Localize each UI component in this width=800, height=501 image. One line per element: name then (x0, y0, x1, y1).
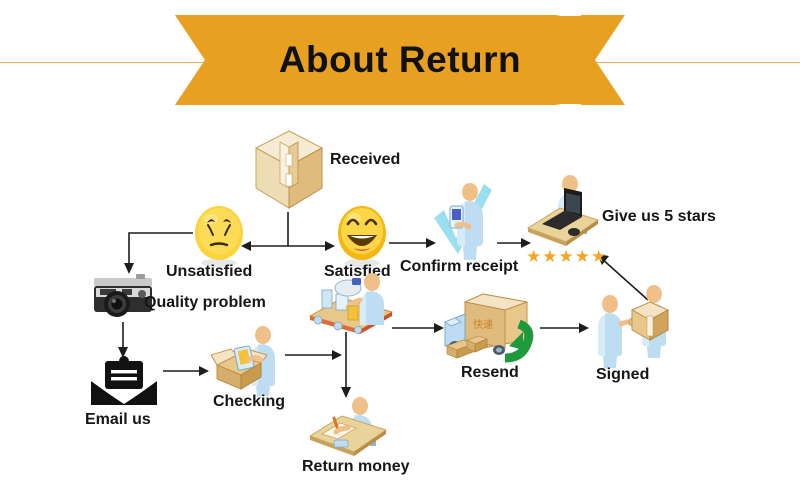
person-desk-writing-icon (306, 396, 390, 462)
person-laptop-icon (524, 172, 600, 250)
star-icon: ★ (591, 248, 606, 265)
node-checking: Checking (209, 325, 285, 402)
node-give-5-stars: Give us 5 stars ★ ★ ★ ★ ★ (524, 172, 600, 255)
smiling-face-icon (334, 205, 390, 267)
about-return-infographic: About Return (0, 0, 800, 501)
node-confirm-receipt: Confirm receipt (432, 180, 500, 267)
two-people-handover-box-icon (588, 282, 678, 370)
label-signed: Signed (596, 366, 649, 384)
about-return-banner: About Return (175, 14, 625, 106)
label-return-money: Return money (302, 458, 410, 476)
label-unsatisfied: Unsatisfied (166, 263, 252, 281)
carton-box-icon (252, 128, 326, 214)
label-quality-problem: Quality problem (144, 294, 266, 312)
label-checking: Checking (213, 393, 285, 411)
person-phone-check-icon (432, 180, 500, 262)
star-rating: ★ ★ ★ ★ ★ (526, 248, 606, 265)
label-confirm-receipt: Confirm receipt (400, 258, 518, 276)
node-email-us: Email us (89, 355, 159, 412)
label-give-5-stars: Give us 5 stars (602, 208, 716, 226)
delivery-truck-icon: 快递 (443, 288, 541, 366)
node-resend: 快递 Resend (443, 288, 541, 371)
truck-parcel-text: 快递 (473, 318, 493, 331)
node-quality-problem: Quality problem (92, 272, 154, 325)
star-icon: ★ (559, 248, 574, 265)
node-inspection-line (308, 272, 394, 339)
label-received: Received (330, 151, 400, 169)
star-icon: ★ (526, 248, 541, 265)
worried-face-icon (191, 205, 247, 267)
node-return-money: Return money (306, 396, 390, 467)
node-satisfied: Satisfied (334, 205, 390, 272)
label-resend: Resend (461, 364, 519, 382)
page-title: About Return (175, 14, 625, 106)
star-icon: ★ (542, 248, 557, 265)
person-open-box-icon (209, 325, 285, 397)
conveyor-line-icon (308, 272, 394, 334)
envelope-icon (89, 355, 159, 407)
node-signed: Signed (588, 282, 678, 375)
node-received: Received (252, 128, 326, 219)
label-email-us: Email us (85, 411, 151, 429)
star-icon: ★ (575, 248, 590, 265)
node-unsatisfied: Unsatisfied (191, 205, 247, 272)
